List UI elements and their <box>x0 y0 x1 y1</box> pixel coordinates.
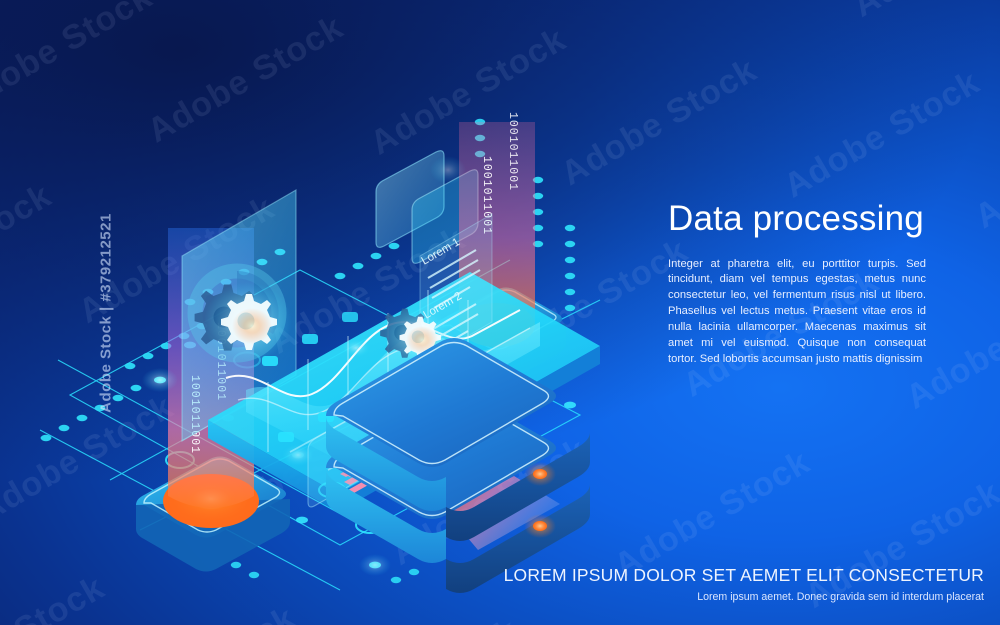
body-paragraph: Integer at pharetra elit, eu porttitor t… <box>668 257 926 368</box>
copy-block: Data processing Integer at pharetra elit… <box>668 200 926 368</box>
footer-subline: Lorem ipsum aemet. Donec gravida sem id … <box>0 591 984 603</box>
footer-block: LOREM IPSUM DOLOR SET AEMET ELIT CONSECT… <box>0 565 984 603</box>
svg-text:1001011001: 1001011001 <box>506 112 519 191</box>
footer-headline: LOREM IPSUM DOLOR SET AEMET ELIT CONSECT… <box>0 565 984 586</box>
isometric-artwork: 1001011001 1001011001 1001011001 1001011… <box>40 60 660 600</box>
stock-watermark-id: Adobe Stock | #379212521 <box>97 213 114 413</box>
illustration-stage: Adobe StockAdobe StockAdobe StockAdobe S… <box>0 0 1000 625</box>
page-title: Data processing <box>668 200 926 239</box>
